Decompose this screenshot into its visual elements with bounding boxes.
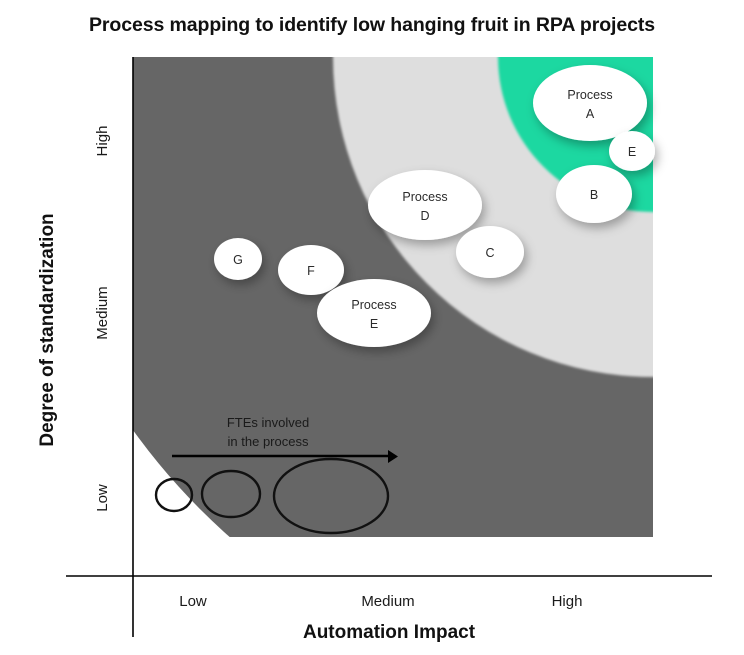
bubble-process-a[interactable]: Process A (533, 65, 647, 141)
bubble-process-e[interactable]: Process E (317, 279, 431, 347)
y-tick-low: Low (94, 484, 111, 512)
bubble-label-line1: Process (567, 88, 612, 102)
bubble-g[interactable]: G (214, 238, 262, 280)
bubble-b[interactable]: B (556, 165, 632, 223)
bubble-label-line1: B (590, 188, 598, 202)
x-tick-labels: Low Medium High (179, 593, 582, 610)
bubble-shape (368, 170, 482, 240)
bubble-shape (317, 279, 431, 347)
bubble-label-line1: C (485, 246, 494, 260)
process-mapping-chart: Process A E B Process D C G (0, 0, 744, 655)
y-tick-medium: Medium (94, 286, 111, 339)
y-axis-title: Degree of standardization (37, 213, 58, 446)
bubble-label-line1: G (233, 253, 243, 267)
bubble-label-line2: A (586, 107, 595, 121)
bubble-shape (533, 65, 647, 141)
y-tick-high: High (94, 126, 111, 157)
legend-text-line2: in the process (228, 434, 309, 449)
bubble-label-line1: Process (402, 190, 447, 204)
bubble-process-d[interactable]: Process D (368, 170, 482, 240)
x-tick-low: Low (179, 593, 207, 610)
bubble-label-line2: E (370, 317, 378, 331)
bubble-label-line1: F (307, 264, 315, 278)
bubble-label-line2: D (420, 209, 429, 223)
x-tick-medium: Medium (361, 593, 414, 610)
bubble-label-line1: E (628, 145, 636, 159)
y-tick-labels: High Medium Low (94, 126, 111, 512)
bubble-c[interactable]: C (456, 226, 524, 278)
chart-root: Process mapping to identify low hanging … (0, 0, 744, 655)
x-axis-title: Automation Impact (303, 622, 476, 643)
x-tick-high: High (552, 593, 583, 610)
legend-text-line1: FTEs involved (227, 415, 309, 430)
bubble-e-top[interactable]: E (609, 131, 655, 171)
bubble-label-line1: Process (351, 298, 396, 312)
bubble-f[interactable]: F (278, 245, 344, 295)
